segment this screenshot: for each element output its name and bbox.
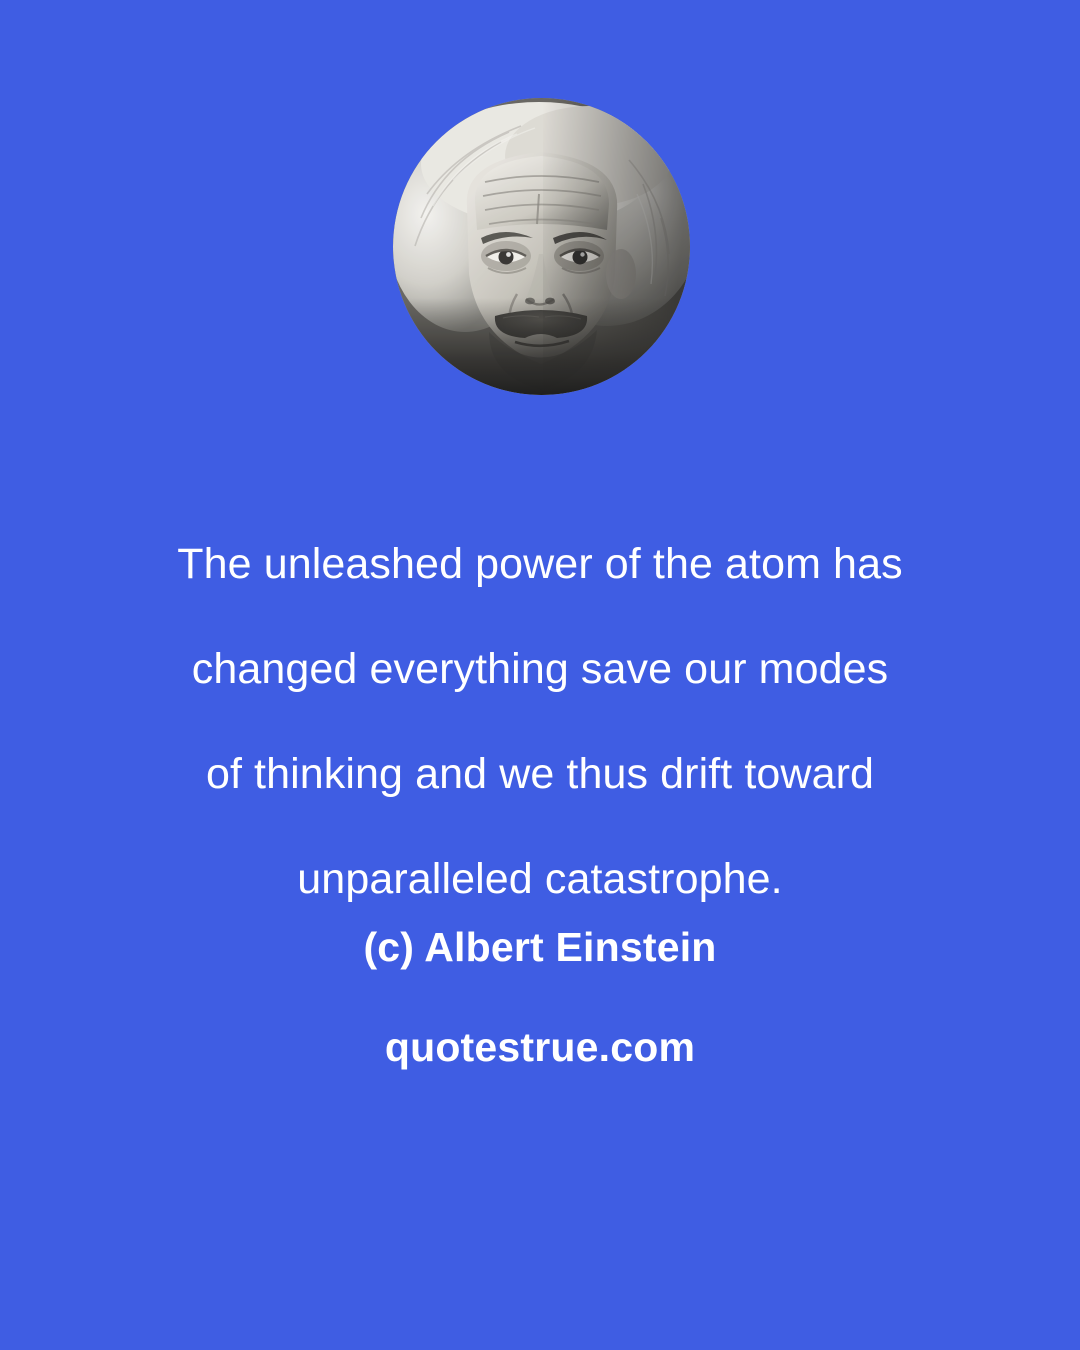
quote-text: The unleashed power of the atom has chan… — [0, 512, 1080, 932]
quote-line-4: unparalleled catastrophe. — [0, 827, 1080, 932]
einstein-portrait-photo — [393, 98, 690, 395]
quote-card: The unleashed power of the atom has chan… — [0, 0, 1080, 1350]
quote-line-2: changed everything save our modes — [0, 617, 1080, 722]
quote-line-3: of thinking and we thus drift toward — [0, 722, 1080, 827]
quote-author: (c) Albert Einstein — [0, 918, 1080, 976]
quote-line-1: The unleashed power of the atom has — [0, 512, 1080, 617]
source-website: quotestrue.com — [0, 1018, 1080, 1076]
portrait-illustration — [393, 98, 690, 395]
attribution: (c) Albert Einstein quotestrue.com — [0, 918, 1080, 1076]
